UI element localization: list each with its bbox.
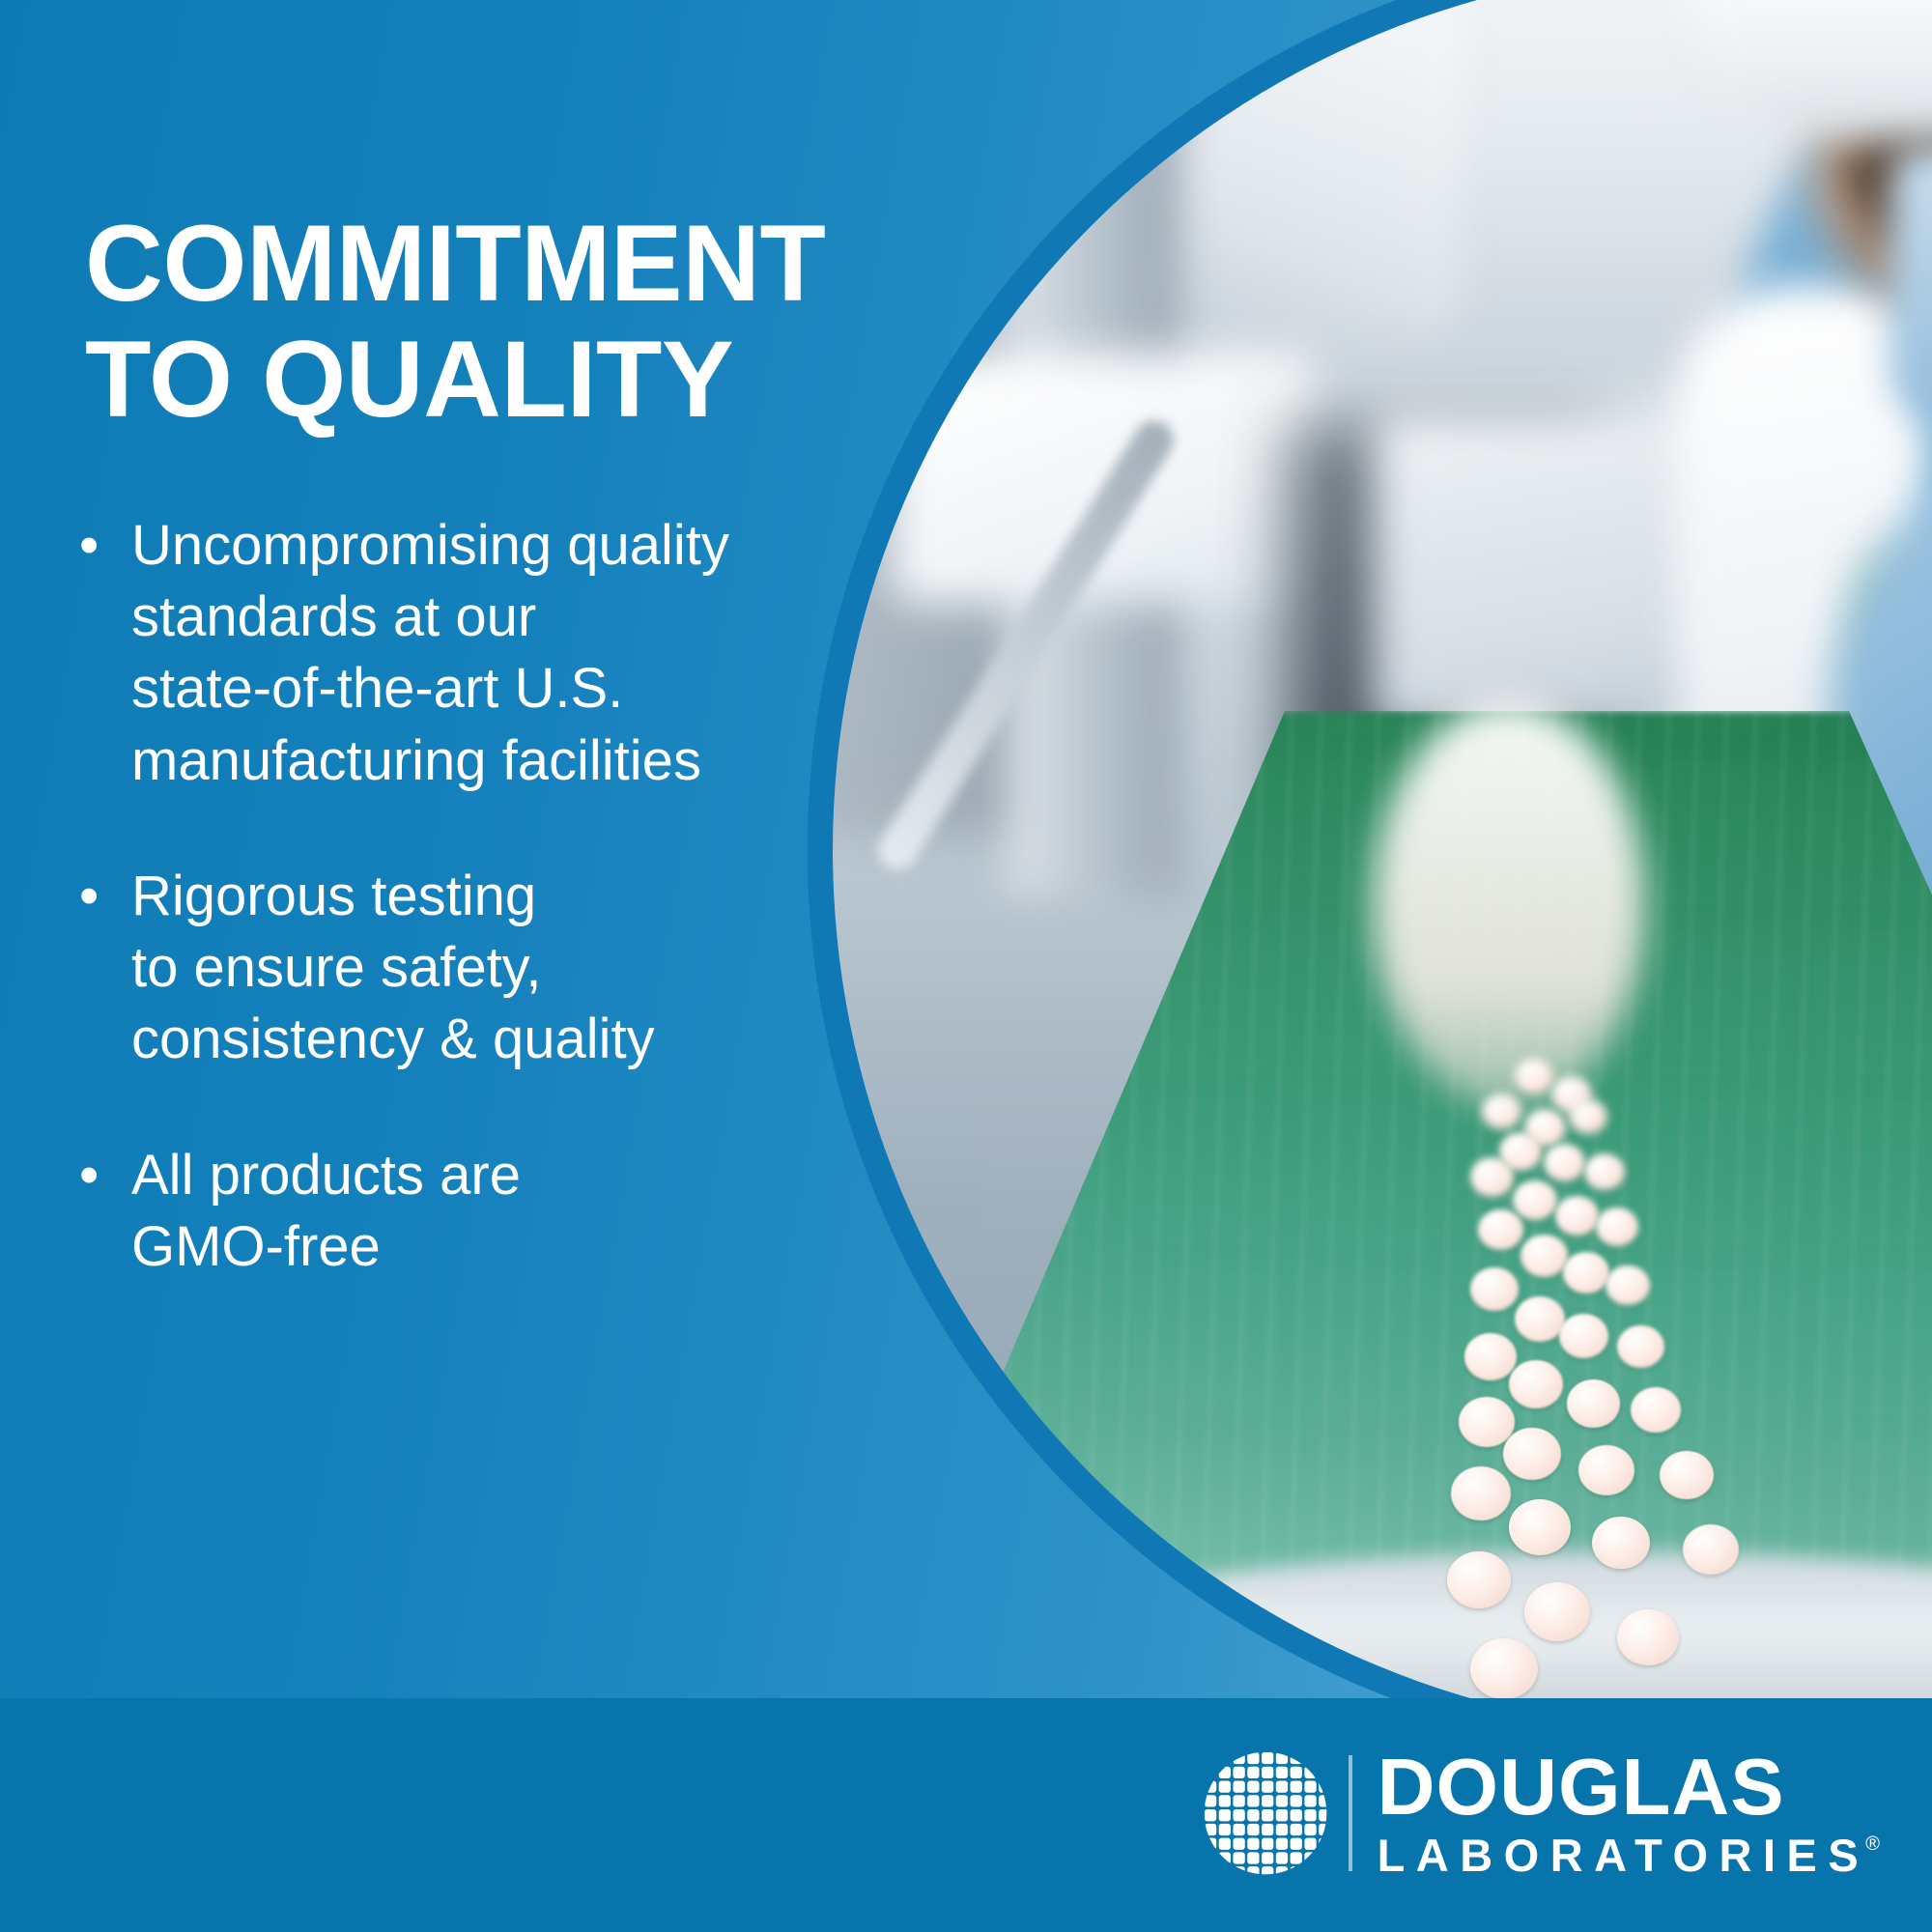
watermark-square: [1134, 589, 1279, 734]
watermark-square: [964, 249, 1109, 394]
watermark-square: [1304, 1099, 1449, 1244]
watermark-square: [1134, 929, 1279, 1074]
logo-subbrand-row: LABORATORIES ®: [1378, 1833, 1880, 1878]
watermark-square: [1814, 249, 1932, 394]
watermark-square: [964, 1269, 1109, 1414]
watermark-square: [1644, 1099, 1789, 1244]
watermark-square: [964, 1099, 1109, 1244]
watermark-square: [1814, 1099, 1932, 1244]
watermark-square: [1814, 589, 1932, 734]
watermark-square: [1304, 249, 1449, 394]
watermark-square: [1644, 589, 1789, 734]
list-item-label: Uncompromising quality standards at our …: [131, 510, 842, 797]
watermark-square: [1644, 249, 1789, 394]
watermark-square: [1474, 759, 1619, 904]
watermark-square: [1814, 419, 1932, 564]
list-item-label: All products are GMO-free: [131, 1140, 842, 1283]
watermark-square: [1134, 1099, 1279, 1244]
logo-brand-name: DOUGLAS: [1378, 1749, 1880, 1825]
list-item: •Uncompromising quality standards at our…: [79, 510, 842, 797]
watermark-square: [1474, 929, 1619, 1074]
watermark-square: [1644, 929, 1789, 1074]
watermark-square: [1134, 419, 1279, 564]
watermark-square: [1304, 759, 1449, 904]
watermark-square: [1134, 79, 1279, 224]
watermark-square: [964, 1439, 1109, 1584]
watermark-square: [1474, 1099, 1619, 1244]
logo-wordmark: DOUGLAS LABORATORIES ®: [1378, 1749, 1880, 1878]
logo-divider: [1349, 1755, 1352, 1871]
watermark-square: [1474, 249, 1619, 394]
watermark-square: [1814, 1269, 1932, 1414]
watermark-square: [1134, 1439, 1279, 1584]
bullet-dot-icon: •: [79, 861, 131, 932]
watermark-square: [1644, 79, 1789, 224]
watermark-square: [1304, 0, 1449, 54]
watermark-square: [964, 929, 1109, 1074]
photo-image: [833, 0, 1932, 1733]
douglas-laboratories-logo: DOUGLAS LABORATORIES ®: [1202, 1749, 1880, 1878]
watermark-square: [1134, 249, 1279, 394]
bullet-dot-icon: •: [79, 1140, 131, 1211]
watermark-square: [1474, 589, 1619, 734]
registered-trademark-icon: ®: [1865, 1834, 1880, 1854]
watermark-square: [1474, 79, 1619, 224]
watermark-square: [1474, 0, 1619, 54]
watermark-square: [1814, 1439, 1932, 1584]
watermark-square: [1134, 759, 1279, 904]
watermark-square: [964, 589, 1109, 734]
watermark-square: [1814, 929, 1932, 1074]
watermark-square: [1304, 1439, 1449, 1584]
content-column: COMMITMENT TO QUALITY •Uncompromising qu…: [0, 0, 869, 1700]
poster-canvas: COMMITMENT TO QUALITY •Uncompromising qu…: [0, 0, 1932, 1932]
watermark-square: [1134, 1269, 1279, 1414]
watermark-square: [964, 759, 1109, 904]
watermark-square: [1304, 419, 1449, 564]
watermark-square: [1814, 79, 1932, 224]
list-item: •Rigorous testing to ensure safety, cons…: [79, 861, 842, 1076]
watermark-square: [1814, 759, 1932, 904]
logo-subbrand-name: LABORATORIES: [1378, 1833, 1870, 1878]
watermark-square: [1644, 419, 1789, 564]
benefits-list: •Uncompromising quality standards at our…: [79, 510, 842, 1347]
watermark-square: [964, 419, 1109, 564]
watermark-square: [1474, 419, 1619, 564]
watermark-square: [964, 0, 1109, 54]
watermark-square: [1474, 1269, 1619, 1414]
watermark-square: [1644, 1269, 1789, 1414]
page-title: COMMITMENT TO QUALITY: [85, 206, 858, 438]
douglas-grid-circle-icon: [1202, 1749, 1329, 1877]
watermark-square: [1304, 1269, 1449, 1414]
watermark-square: [1304, 589, 1449, 734]
photo-watermark-grid: [833, 0, 1932, 1733]
watermark-square: [1134, 0, 1279, 54]
watermark-square: [1644, 0, 1789, 54]
watermark-square: [1644, 1439, 1789, 1584]
list-item-label: Rigorous testing to ensure safety, consi…: [131, 861, 842, 1076]
watermark-square: [1814, 0, 1932, 54]
bullet-dot-icon: •: [79, 510, 131, 582]
list-item: •All products are GMO-free: [79, 1140, 842, 1283]
watermark-square: [1304, 79, 1449, 224]
photo-panel: [808, 0, 1932, 1758]
watermark-square: [1474, 1439, 1619, 1584]
watermark-square: [1304, 929, 1449, 1074]
watermark-square: [964, 79, 1109, 224]
watermark-square: [1644, 759, 1789, 904]
